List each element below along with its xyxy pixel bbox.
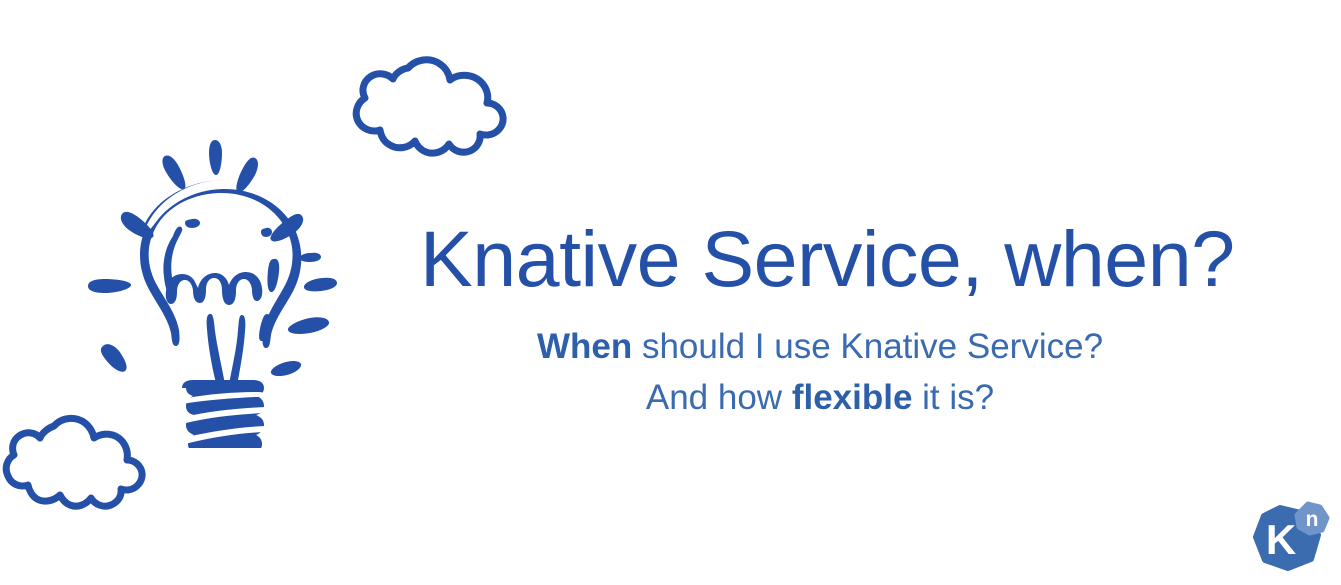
logo-letter-k: K	[1266, 516, 1296, 563]
logo-letter-n: n	[1306, 508, 1319, 531]
headline-block: Knative Service, when? When should I use…	[420, 218, 1220, 424]
cloud-icon	[0, 412, 152, 530]
subtitle-line-1-emphasis: When	[537, 327, 632, 366]
subtitle-line-2: And how flexible it is?	[420, 372, 1220, 423]
lightbulb-icon	[70, 118, 370, 448]
knative-logo-icon: K n	[1248, 500, 1330, 576]
page-title: Knative Service, when?	[420, 218, 1220, 301]
subtitle-line-1-rest: should I use Knative Service?	[632, 327, 1103, 366]
subtitle-block: When should I use Knative Service? And h…	[420, 321, 1220, 424]
cloud-icon	[340, 52, 515, 172]
subtitle-line-2-pre: And how	[646, 378, 792, 417]
subtitle-line-1: When should I use Knative Service?	[420, 321, 1220, 372]
subtitle-line-2-emphasis: flexible	[792, 378, 913, 417]
subtitle-line-2-post: it is?	[912, 378, 994, 417]
slide-canvas: Knative Service, when? When should I use…	[0, 0, 1341, 585]
